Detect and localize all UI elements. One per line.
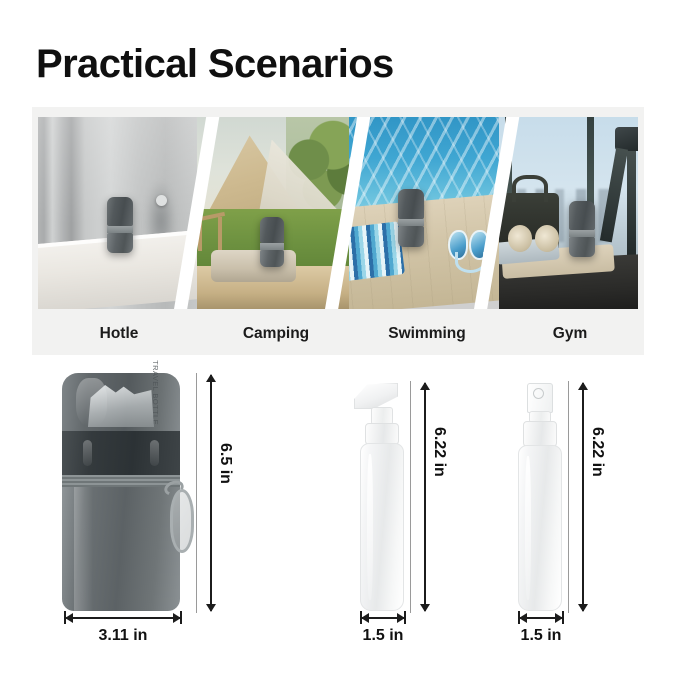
camping-scene [197, 117, 349, 309]
scenario-image-strip [38, 117, 638, 309]
scenarios-card: Hotle Camping Swimming Gym [32, 107, 644, 355]
pump-bottle-illustration [360, 383, 404, 611]
pool-towel [349, 221, 404, 282]
gym-towel-roll [508, 225, 532, 252]
scenario-labels: Hotle Camping Swimming Gym [38, 317, 638, 351]
main-product-illustration: TRAVEL BOTTLE [62, 373, 180, 611]
spray-bottle-illustration [518, 383, 562, 611]
scenario-label-hotel: Hotle [38, 317, 200, 351]
product-in-gym [569, 201, 595, 257]
pump-width-line [362, 617, 404, 619]
product-band [260, 243, 284, 250]
gym-towel-roll [535, 225, 559, 252]
dimension-guide [568, 381, 569, 613]
pump-height-line [424, 383, 426, 611]
dimension-guide [196, 373, 197, 613]
dimension-guide [410, 381, 411, 613]
product-in-swimming [398, 189, 424, 247]
dimensions-section: TRAVEL BOTTLE 6.5 in 3.11 in 55ml X4 6.2… [0, 365, 679, 665]
scenario-label-gym: Gym [502, 317, 638, 351]
product-cap [569, 201, 595, 230]
scenario-panel-gym [499, 117, 638, 309]
main-height-line [210, 375, 212, 611]
lanyard-loop [170, 489, 194, 553]
main-width-label: 3.11 in [64, 627, 182, 645]
pump-width-label: 1.5 in [342, 627, 424, 645]
page-title: Practical Scenarios [36, 42, 394, 86]
pump-height-label: 6.22 in [430, 427, 448, 477]
gym-scene [499, 117, 638, 309]
product-cap [107, 197, 133, 226]
product-in-camping [260, 217, 284, 267]
bottle-collar [523, 421, 557, 447]
spray-cap [527, 383, 553, 413]
main-height-label: 6.5 in [216, 443, 234, 484]
bottle-body [360, 443, 404, 611]
product-base [107, 233, 133, 253]
scenario-label-swimming: Swimming [352, 317, 502, 351]
product-band [569, 230, 595, 237]
product-window-band [62, 431, 180, 475]
spray-width-line [520, 617, 562, 619]
scenario-panel-swimming [349, 117, 499, 309]
product-base [398, 226, 424, 246]
product-band [398, 219, 424, 227]
product-in-hotel [107, 197, 133, 253]
spray-height-line [582, 383, 584, 611]
bottle-body [518, 445, 562, 611]
spray-height-label: 6.22 in [588, 427, 606, 477]
pump-head [354, 383, 398, 409]
product-infographic: Practical Scenarios [0, 0, 679, 679]
scenario-panel-camping [197, 117, 349, 309]
product-band [107, 226, 133, 233]
scenario-label-camping: Camping [200, 317, 352, 351]
spray-width-label: 1.5 in [500, 627, 582, 645]
product-base [569, 237, 595, 257]
product-cap [260, 217, 284, 243]
main-width-line [66, 617, 180, 619]
product-cap [398, 189, 424, 219]
product-base [260, 250, 284, 268]
hotel-scene [38, 117, 197, 309]
hotel-fixture-icon [156, 195, 167, 206]
swimming-scene [349, 117, 499, 309]
bottle-collar [365, 423, 399, 445]
scenario-panel-hotel [38, 117, 197, 309]
